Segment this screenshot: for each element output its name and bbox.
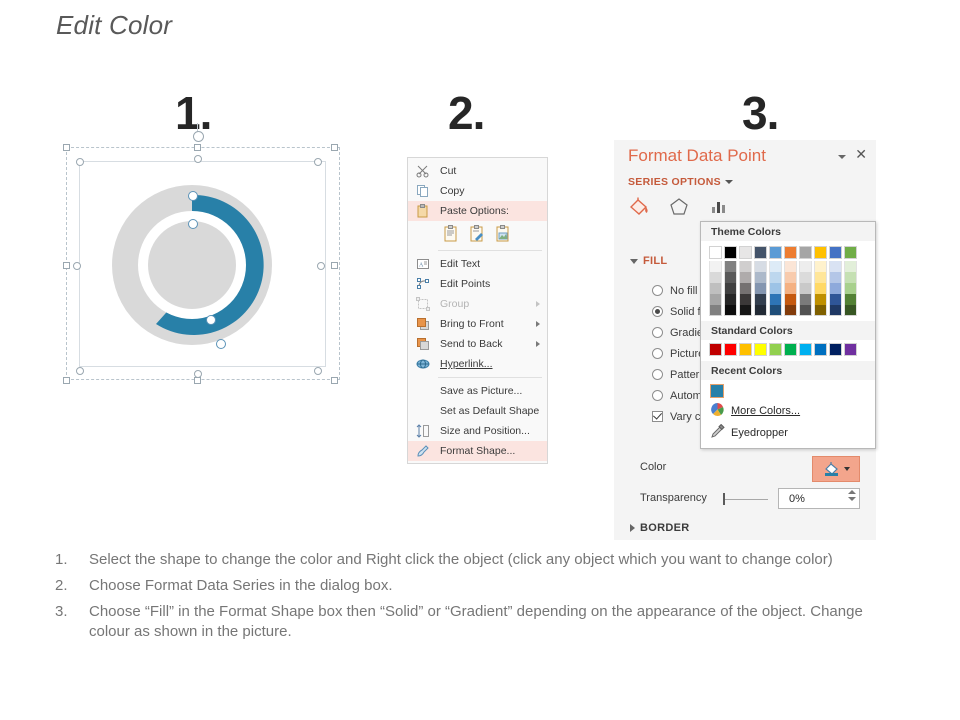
menu-item-label: Group	[440, 298, 469, 310]
fill-section-header[interactable]: FILL	[630, 255, 667, 267]
menu-item-size-and-position[interactable]: Size and Position...	[408, 421, 547, 441]
theme-color-column[interactable]	[724, 246, 737, 316]
resize-handle-e[interactable]	[331, 262, 338, 269]
theme-color-column[interactable]	[814, 246, 827, 316]
inner-handle-sw[interactable]	[76, 367, 84, 375]
resize-handle-sw[interactable]	[63, 377, 70, 384]
menu-item-bring-to-front[interactable]: Bring to Front	[408, 314, 547, 334]
theme-color-variant-swatch[interactable]	[814, 283, 827, 294]
inner-handle-n[interactable]	[194, 155, 202, 163]
menu-item-format-shape[interactable]: Format Shape...	[408, 441, 547, 461]
more-colors-action[interactable]: More Colors...	[701, 400, 875, 422]
resize-handle-nw[interactable]	[63, 144, 70, 151]
context-menu[interactable]: Cut Copy Paste Options:	[407, 157, 548, 464]
color-row[interactable]: Color	[640, 456, 860, 482]
theme-color-variant-swatch[interactable]	[754, 272, 767, 283]
theme-color-variant-swatch[interactable]	[724, 261, 737, 272]
menu-separator	[438, 377, 542, 378]
theme-color-variant-swatch[interactable]	[814, 272, 827, 283]
standard-color-swatch[interactable]	[769, 343, 782, 356]
theme-color-swatch[interactable]	[754, 246, 767, 259]
paste-merge-formatting-icon[interactable]	[468, 225, 486, 243]
color-label: Color	[640, 461, 666, 473]
theme-color-variant-swatch[interactable]	[844, 305, 857, 316]
resize-handle-ne[interactable]	[331, 144, 338, 151]
theme-color-variant-swatch[interactable]	[784, 305, 797, 316]
scissors-icon	[416, 164, 430, 178]
segment-handle-start-inner[interactable]	[188, 219, 198, 229]
menu-item-copy[interactable]: Copy	[408, 181, 547, 201]
bring-front-icon	[416, 317, 430, 331]
theme-color-variant-swatch[interactable]	[799, 283, 812, 294]
inner-handle-e[interactable]	[317, 262, 325, 270]
menu-item-paste-options[interactable]: Paste Options:	[408, 201, 547, 221]
theme-color-swatch[interactable]	[844, 246, 857, 259]
chart-series-icon[interactable]	[708, 196, 730, 223]
theme-color-swatch[interactable]	[739, 246, 752, 259]
theme-color-variant-swatch[interactable]	[799, 294, 812, 305]
size-position-icon	[416, 424, 430, 438]
theme-color-variant-swatch[interactable]	[724, 272, 737, 283]
theme-color-variant-swatch[interactable]	[709, 305, 722, 316]
chevron-down-icon	[844, 467, 850, 471]
theme-color-swatch[interactable]	[799, 246, 812, 259]
menu-item-label: Bring to Front	[440, 318, 504, 330]
resize-handle-se[interactable]	[331, 377, 338, 384]
menu-separator	[438, 250, 542, 251]
theme-color-variant-swatch[interactable]	[814, 261, 827, 272]
theme-color-variant-swatch[interactable]	[754, 294, 767, 305]
menu-item-label: Paste Options:	[440, 205, 509, 217]
theme-color-variant-swatch[interactable]	[709, 283, 722, 294]
menu-item-label: Size and Position...	[440, 425, 530, 437]
theme-color-variant-swatch[interactable]	[829, 305, 842, 316]
theme-color-column[interactable]	[769, 246, 782, 316]
radio-icon	[652, 369, 663, 380]
theme-color-variant-swatch[interactable]	[844, 272, 857, 283]
chevron-right-icon	[536, 321, 540, 327]
menu-item-label: Cut	[440, 165, 456, 177]
radio-icon-selected	[652, 306, 663, 317]
theme-color-variant-swatch[interactable]	[739, 283, 752, 294]
donut-chart-selected[interactable]	[62, 143, 342, 386]
clipboard-icon	[416, 204, 430, 218]
pane-title: Format Data Point	[628, 146, 766, 166]
instruction-number: 2.	[55, 576, 89, 596]
instruction-number: 3.	[55, 602, 89, 642]
rotate-handle[interactable]	[193, 131, 204, 142]
menu-item-label: Edit Text	[440, 258, 480, 270]
series-options-label: SERIES OPTIONS	[628, 176, 721, 188]
donut-graphic[interactable]	[100, 167, 300, 363]
theme-color-column[interactable]	[799, 246, 812, 316]
step-number-1: 1.	[175, 86, 211, 140]
menu-item-edit-text[interactable]: A Edit Text	[408, 254, 547, 274]
eyedropper-icon	[710, 424, 725, 442]
instruction-text: Choose “Fill” in the Format Shape box th…	[89, 602, 885, 642]
standard-color-swatch[interactable]	[844, 343, 857, 356]
theme-color-variant-swatch[interactable]	[844, 283, 857, 294]
recent-colors-header: Recent Colors	[701, 361, 875, 380]
theme-color-variant-swatch[interactable]	[829, 272, 842, 283]
transparency-label: Transparency	[640, 492, 707, 504]
menu-item-send-to-back[interactable]: Send to Back	[408, 334, 547, 354]
theme-color-variant-swatch[interactable]	[844, 261, 857, 272]
theme-colors-header: Theme Colors	[701, 222, 875, 241]
theme-color-column[interactable]	[754, 246, 767, 316]
paste-keep-formatting-icon[interactable]	[442, 225, 460, 243]
theme-color-column[interactable]	[829, 246, 842, 316]
menu-item-save-as-picture[interactable]: Save as Picture...	[408, 381, 547, 401]
fill-section-label: FILL	[643, 255, 667, 267]
theme-color-variant-swatch[interactable]	[784, 272, 797, 283]
theme-color-column[interactable]	[739, 246, 752, 316]
theme-color-swatch[interactable]	[724, 246, 737, 259]
eyedropper-action[interactable]: Eyedropper	[701, 422, 875, 444]
theme-color-variant-swatch[interactable]	[844, 294, 857, 305]
theme-color-variant-swatch[interactable]	[829, 294, 842, 305]
menu-item-hyperlink[interactable]: Hyperlink...	[408, 354, 547, 374]
instruction-text: Select the shape to change the color and…	[89, 550, 885, 570]
option-label: No fill	[670, 285, 698, 297]
eyedropper-label: Eyedropper	[731, 427, 788, 439]
step-number-2: 2.	[448, 86, 484, 140]
theme-color-columns[interactable]	[709, 246, 875, 316]
menu-item-edit-points[interactable]: Edit Points	[408, 274, 547, 294]
chevron-right-icon	[536, 301, 540, 307]
theme-color-variant-swatch[interactable]	[829, 283, 842, 294]
hyperlink-icon	[416, 357, 430, 371]
theme-color-variant-swatch[interactable]	[739, 294, 752, 305]
theme-color-variant-swatch[interactable]	[769, 283, 782, 294]
theme-color-variant-swatch[interactable]	[709, 294, 722, 305]
theme-color-swatch[interactable]	[784, 246, 797, 259]
menu-item-label: Set as Default Shape	[440, 405, 539, 417]
menu-item-label: Hyperlink...	[440, 358, 493, 370]
theme-color-column[interactable]	[784, 246, 797, 316]
theme-color-swatch[interactable]	[709, 246, 722, 259]
chevron-right-icon	[536, 341, 540, 347]
menu-item-label: Format Shape...	[440, 445, 515, 457]
standard-color-swatch[interactable]	[709, 343, 722, 356]
theme-color-variant-swatch[interactable]	[784, 283, 797, 294]
stepper-down-icon[interactable]	[848, 497, 856, 501]
transparency-stepper[interactable]	[848, 490, 856, 501]
theme-color-variant-swatch[interactable]	[709, 272, 722, 283]
theme-color-variant-swatch[interactable]	[799, 305, 812, 316]
edit-text-icon: A	[416, 257, 430, 271]
theme-color-variant-swatch[interactable]	[784, 261, 797, 272]
standard-color-row[interactable]	[709, 343, 875, 356]
series-options-dropdown[interactable]: SERIES OPTIONS	[628, 176, 733, 188]
paste-picture-icon[interactable]	[494, 225, 512, 243]
theme-color-variant-swatch[interactable]	[754, 261, 767, 272]
standard-color-swatch[interactable]	[724, 343, 737, 356]
radio-icon	[652, 327, 663, 338]
theme-color-variant-swatch[interactable]	[739, 272, 752, 283]
theme-color-swatch[interactable]	[829, 246, 842, 259]
standard-color-swatch[interactable]	[814, 343, 827, 356]
paint-bucket-icon[interactable]	[628, 196, 650, 223]
inner-handle-nw[interactable]	[76, 158, 84, 166]
radio-icon	[652, 348, 663, 359]
close-icon[interactable]: ✕	[855, 147, 867, 161]
triangle-down-icon	[630, 259, 638, 264]
chevron-down-icon	[725, 180, 733, 184]
instruction-text: Choose Format Data Series in the dialog …	[89, 576, 885, 596]
theme-color-variant-swatch[interactable]	[739, 261, 752, 272]
theme-colors-grid[interactable]	[701, 241, 875, 316]
menu-item-label: Save as Picture...	[440, 385, 522, 397]
transparency-slider-track[interactable]	[724, 499, 768, 500]
inner-handle-ne[interactable]	[314, 158, 322, 166]
theme-color-variant-swatch[interactable]	[769, 305, 782, 316]
theme-color-variant-swatch[interactable]	[724, 283, 737, 294]
stepper-up-icon[interactable]	[848, 490, 856, 494]
page-title: Edit Color	[56, 10, 172, 41]
theme-color-variant-swatch[interactable]	[724, 294, 737, 305]
theme-color-variant-swatch[interactable]	[814, 305, 827, 316]
resize-handle-s[interactable]	[194, 377, 201, 384]
instructions-list: 1. Select the shape to change the color …	[55, 550, 885, 648]
send-back-icon	[416, 337, 430, 351]
menu-item-label: Copy	[440, 185, 465, 197]
segment-handle-end-inner[interactable]	[206, 315, 216, 325]
theme-color-variant-swatch[interactable]	[769, 294, 782, 305]
standard-color-swatch[interactable]	[754, 343, 767, 356]
instruction-item: 1. Select the shape to change the color …	[55, 550, 885, 570]
standard-colors-header: Standard Colors	[701, 321, 875, 340]
triangle-right-icon	[630, 524, 635, 532]
segment-handle-start-outer[interactable]	[188, 191, 198, 201]
standard-color-swatch[interactable]	[739, 343, 752, 356]
svg-text:A: A	[419, 263, 424, 269]
pane-icon-row[interactable]	[628, 196, 730, 223]
standard-color-swatch[interactable]	[799, 343, 812, 356]
transparency-row[interactable]: Transparency 0%	[640, 488, 860, 510]
instruction-item: 3. Choose “Fill” in the Format Shape box…	[55, 602, 885, 642]
theme-color-variant-swatch[interactable]	[769, 272, 782, 283]
fill-color-button[interactable]	[812, 456, 860, 482]
step-number-3: 3.	[742, 86, 778, 140]
theme-color-column[interactable]	[844, 246, 857, 316]
standard-color-swatch[interactable]	[829, 343, 842, 356]
theme-color-variant-swatch[interactable]	[799, 261, 812, 272]
instruction-item: 2. Choose Format Data Series in the dial…	[55, 576, 885, 596]
resize-handle-n[interactable]	[194, 144, 201, 151]
edit-points-icon	[416, 277, 430, 291]
segment-handle-end-outer[interactable]	[216, 339, 226, 349]
theme-color-variant-swatch[interactable]	[829, 261, 842, 272]
border-section-label: BORDER	[640, 522, 689, 534]
theme-color-variant-swatch[interactable]	[769, 261, 782, 272]
more-colors-label: More Colors...	[731, 405, 800, 417]
theme-color-variant-swatch[interactable]	[724, 305, 737, 316]
recent-color-swatch[interactable]	[710, 384, 724, 398]
standard-color-swatch[interactable]	[784, 343, 797, 356]
border-section-header[interactable]: BORDER	[630, 522, 689, 534]
pentagon-effects-icon[interactable]	[668, 196, 690, 223]
theme-color-swatch[interactable]	[814, 246, 827, 259]
group-icon	[416, 297, 430, 311]
menu-item-label: Edit Points	[440, 278, 490, 290]
color-wheel-icon	[710, 402, 725, 420]
menu-item-set-as-default-shape[interactable]: Set as Default Shape	[408, 401, 547, 421]
theme-color-variant-swatch[interactable]	[754, 283, 767, 294]
donut-inner-disc	[148, 221, 236, 309]
transparency-slider-thumb[interactable]	[723, 493, 725, 505]
checkbox-icon-checked	[652, 411, 663, 422]
paint-bucket-icon	[823, 461, 841, 477]
theme-color-variant-swatch[interactable]	[799, 272, 812, 283]
color-picker-popup[interactable]: Theme Colors Standard Colors Recent Colo…	[700, 221, 876, 449]
resize-handle-w[interactable]	[63, 262, 70, 269]
radio-icon	[652, 390, 663, 401]
theme-color-variant-swatch[interactable]	[754, 305, 767, 316]
paste-options-row[interactable]	[408, 221, 547, 247]
radio-icon	[652, 285, 663, 296]
inner-handle-w[interactable]	[73, 262, 81, 270]
recent-colors-row[interactable]	[701, 380, 875, 400]
standard-colors-grid[interactable]	[701, 340, 875, 356]
theme-color-variant-swatch[interactable]	[739, 305, 752, 316]
inner-handle-se[interactable]	[314, 367, 322, 375]
theme-color-variant-swatch[interactable]	[784, 294, 797, 305]
theme-color-variant-swatch[interactable]	[709, 261, 722, 272]
theme-color-variant-swatch[interactable]	[814, 294, 827, 305]
theme-color-swatch[interactable]	[769, 246, 782, 259]
instruction-number: 1.	[55, 550, 89, 570]
theme-color-column[interactable]	[709, 246, 722, 316]
copy-icon	[416, 184, 430, 198]
menu-item-cut[interactable]: Cut	[408, 161, 547, 181]
inner-handle-s[interactable]	[194, 370, 202, 378]
menu-item-label: Send to Back	[440, 338, 502, 350]
menu-item-group: Group	[408, 294, 547, 314]
format-shape-icon	[416, 444, 430, 458]
chevron-down-icon[interactable]	[838, 155, 846, 159]
